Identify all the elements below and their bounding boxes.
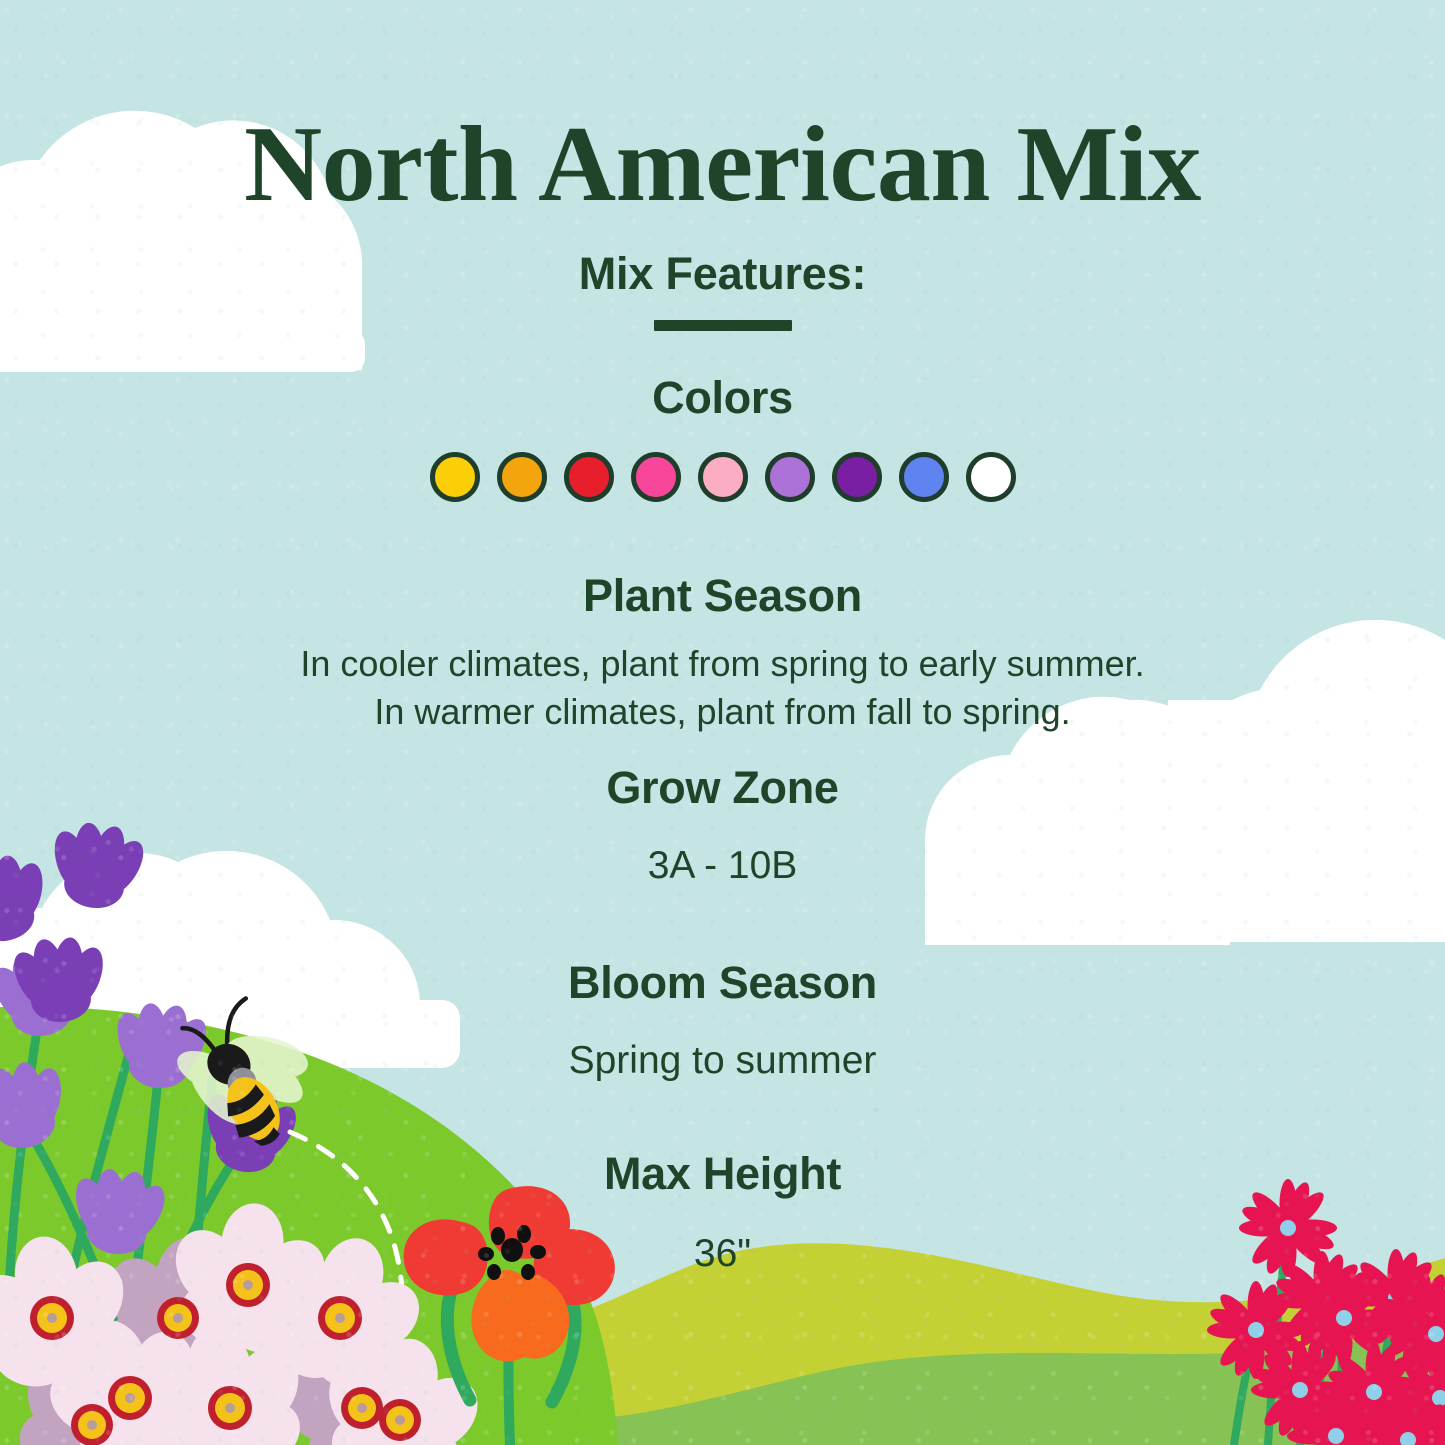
section-value-max-height: 36": [0, 1228, 1445, 1279]
page-title: North American Mix: [0, 108, 1445, 221]
section-body-plant-season: In cooler climates, plant from spring to…: [0, 640, 1445, 735]
color-swatch-orange: [497, 452, 547, 502]
section-heading-bloom-season: Bloom Season: [0, 957, 1445, 1009]
color-swatch-dark-purple: [832, 452, 882, 502]
section-value-bloom-season: Spring to summer: [0, 1035, 1445, 1086]
plant-season-line-2: In warmer climates, plant from fall to s…: [0, 688, 1445, 736]
text-content-layer: North American Mix Mix Features: Colors …: [0, 0, 1445, 1445]
mix-features-subtitle: Mix Features:: [0, 248, 1445, 300]
plant-season-line-1: In cooler climates, plant from spring to…: [0, 640, 1445, 688]
section-heading-max-height: Max Height: [0, 1148, 1445, 1200]
color-swatch-row: [0, 452, 1445, 502]
color-swatch-yellow: [430, 452, 480, 502]
section-heading-grow-zone: Grow Zone: [0, 762, 1445, 814]
title-divider-rule: [654, 320, 792, 331]
color-swatch-white: [966, 452, 1016, 502]
section-heading-colors: Colors: [0, 372, 1445, 424]
section-heading-plant-season: Plant Season: [0, 570, 1445, 622]
color-swatch-hot-pink: [631, 452, 681, 502]
color-swatch-blue: [899, 452, 949, 502]
color-swatch-medium-purple: [765, 452, 815, 502]
color-swatch-light-pink: [698, 452, 748, 502]
section-value-grow-zone: 3A - 10B: [0, 840, 1445, 891]
seed-packet-infographic: North American Mix Mix Features: Colors …: [0, 0, 1445, 1445]
color-swatch-red: [564, 452, 614, 502]
